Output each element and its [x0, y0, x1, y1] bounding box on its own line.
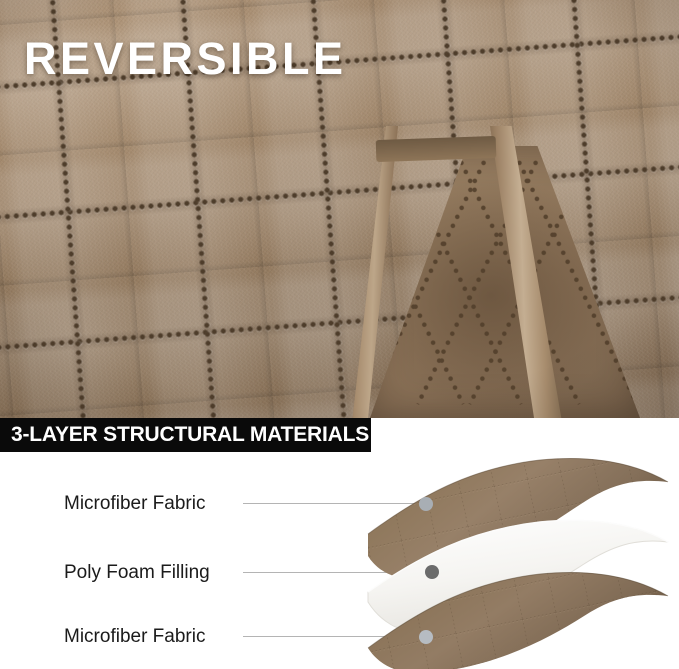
- product-infographic: REVERSIBLE 3-LAYER STRUCTURAL MATERIALS …: [0, 0, 679, 669]
- folded-corner-reverse-side: [330, 128, 679, 418]
- fold-apex: [376, 136, 497, 162]
- hero-photo-quilted-fabric: REVERSIBLE: [0, 0, 679, 418]
- layer-diagram: Microfiber Fabric Poly Foam Filling Micr…: [0, 452, 679, 669]
- marker-dot-middle: [425, 565, 439, 579]
- section-banner: 3-LAYER STRUCTURAL MATERIALS: [0, 418, 371, 452]
- marker-dot-bottom: [419, 630, 433, 644]
- section-banner-label: 3-LAYER STRUCTURAL MATERIALS: [11, 423, 369, 447]
- layer-sheets: [0, 452, 679, 669]
- page-title: REVERSIBLE: [24, 36, 347, 81]
- marker-dot-top: [419, 497, 433, 511]
